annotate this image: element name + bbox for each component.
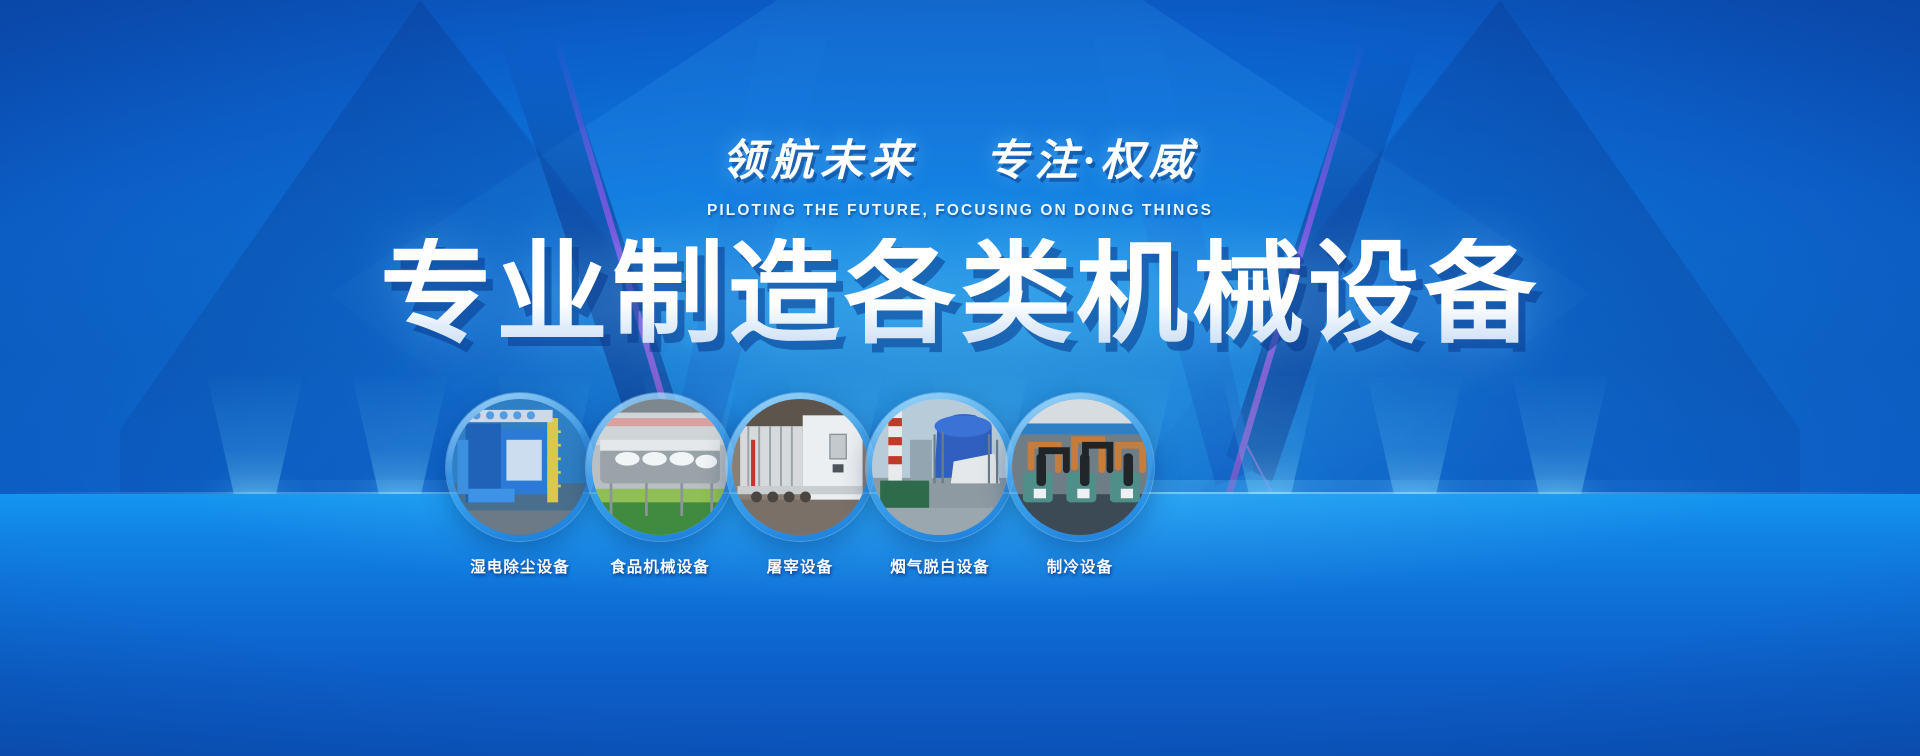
calligraphy-left: 领航未来 bbox=[722, 138, 918, 185]
flue-gas-photo bbox=[872, 399, 1008, 535]
banner-stage: 领航未来 专注·权威 PILOTING THE FUTURE, FOCUSING… bbox=[0, 0, 1920, 756]
calligraphy-tagline: 领航未来 专注·权威 bbox=[0, 126, 1920, 188]
dust-collector-photo bbox=[452, 399, 588, 535]
background-vignette bbox=[0, 0, 1920, 756]
product-ring[interactable] bbox=[726, 393, 874, 541]
calligraphy-right: 专注·权威 bbox=[985, 138, 1198, 185]
product-ring[interactable] bbox=[586, 393, 734, 541]
product-item[interactable]: 制冷设备 bbox=[996, 393, 1164, 577]
product-ring[interactable] bbox=[446, 393, 594, 541]
english-subtitle: PILOTING THE FUTURE, FOCUSING ON DOING T… bbox=[0, 202, 1920, 220]
page-title: 专业制造各类机械设备 bbox=[0, 238, 1920, 350]
product-ring[interactable] bbox=[1006, 393, 1154, 541]
food-machinery-photo bbox=[592, 399, 728, 535]
product-label: 制冷设备 bbox=[996, 555, 1164, 577]
product-list: 湿电除尘设备 食品机械设备 bbox=[0, 393, 1920, 593]
product-ring[interactable] bbox=[866, 393, 1014, 541]
slaughter-equipment-photo bbox=[732, 399, 868, 535]
refrigeration-photo bbox=[1012, 399, 1148, 535]
